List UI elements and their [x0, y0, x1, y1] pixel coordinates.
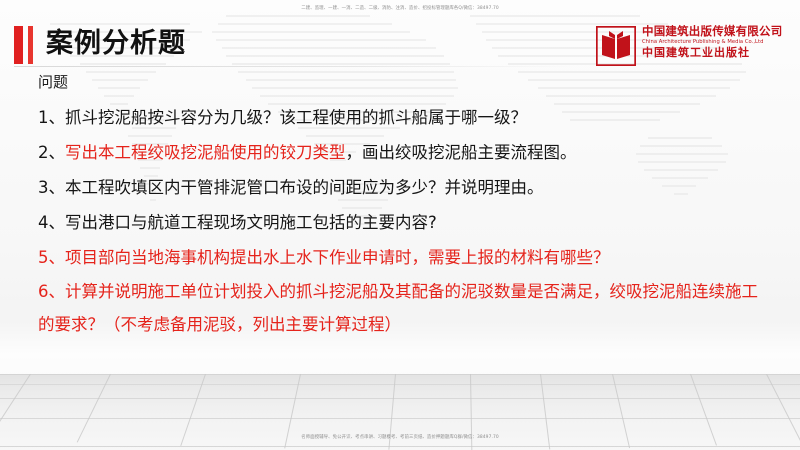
logo-company-en: China Architecture Publishing & Media Co… [642, 38, 792, 46]
question-item-2: 2、写出本工程绞吸挖泥船使用的铰刀类型，画出绞吸挖泥船主要流程图。 [38, 135, 762, 170]
question-3-text: 3、本工程吹填区内干管排泥管口布设的间距应为多少？并说明理由。 [38, 178, 544, 197]
open-book-icon [596, 26, 636, 66]
question-item-6: 6、计算并说明施工单位计划投入的抓斗挖泥船及其配备的泥驳数量是否满足，绞吸挖泥船… [38, 275, 762, 341]
question-5-text: 5、项目部向当地海事机构提出水上水下作业申请时，需要上报的材料有哪些？ [38, 248, 610, 267]
question-2-tail: ，画出绞吸挖泥船主要流程图。 [346, 143, 577, 162]
question-2-number: 2、 [38, 143, 65, 162]
logo-press-cn: 中国建筑工业出版社 [642, 46, 792, 60]
slide-canvas: 二建、监理、一建、一消、二造、二级、消防、注消、造价、招投标管理题库各Q/微信：… [0, 0, 800, 450]
section-label: 问题 [38, 70, 762, 94]
question-item-1: 1、抓斗挖泥船按斗容分为几级？该工程使用的抓斗船属于哪一级？ [38, 100, 762, 135]
question-2-highlight: 写出本工程绞吸挖泥船使用的铰刀类型 [65, 143, 346, 162]
title-accent-bar-1 [14, 26, 23, 64]
question-list: 问题 1、抓斗挖泥船按斗容分为几级？该工程使用的抓斗船属于哪一级？ 2、写出本工… [38, 70, 762, 341]
question-item-5: 5、项目部向当地海事机构提出水上水下作业申请时，需要上报的材料有哪些？ [38, 240, 762, 275]
question-4-text: 4、写出港口与航道工程现场文明施工包括的主要内容? [38, 213, 437, 232]
question-6-text: 6、计算并说明施工单位计划投入的抓斗挖泥船及其配备的泥驳数量是否满足，绞吸挖泥船… [38, 282, 758, 334]
question-1-text: 1、抓斗挖泥船按斗容分为几级？该工程使用的抓斗船属于哪一级？ [38, 108, 527, 127]
publisher-logo: 中国建筑出版传媒有限公司 China Architecture Publishi… [596, 24, 792, 68]
page-title: 案例分析题 [46, 25, 186, 63]
top-watermark-caption: 二建、监理、一建、一消、二造、二级、消防、注消、造价、招投标管理题库各Q/微信：… [0, 6, 800, 12]
bottom-watermark-caption: 名师面授辅导、免公开识、考点串讲、习题模考、考前三页纸、造价押题题库Q群/微信：… [0, 435, 800, 441]
question-item-4: 4、写出港口与航道工程现场文明施工包括的主要内容? [38, 205, 762, 240]
title-underline [14, 66, 574, 67]
title-accent-bar-2 [28, 26, 33, 64]
question-item-3: 3、本工程吹填区内干管排泥管口布设的间距应为多少？并说明理由。 [38, 170, 762, 205]
logo-company-cn: 中国建筑出版传媒有限公司 [642, 24, 792, 38]
